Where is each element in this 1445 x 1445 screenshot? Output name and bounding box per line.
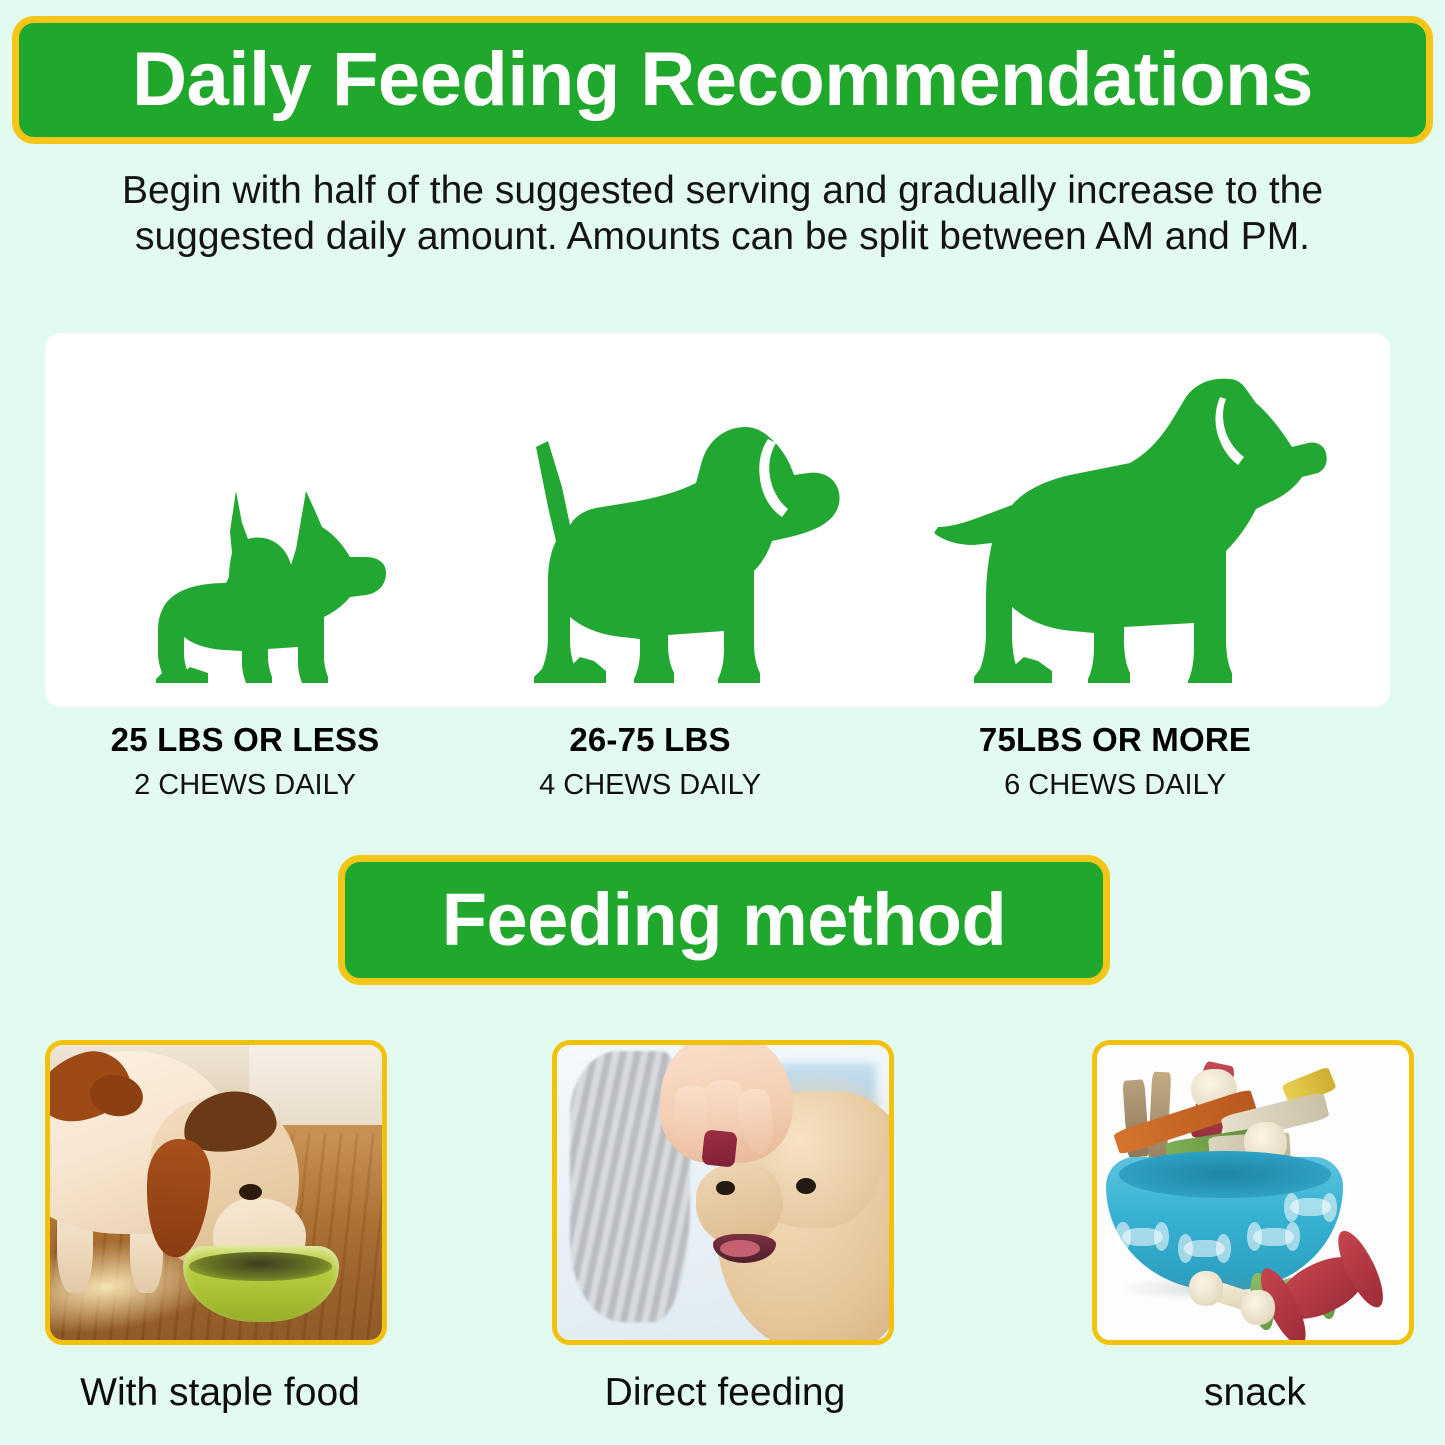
size-dose-label: 2 CHEWS DAILY — [20, 770, 470, 802]
page-title-banner: Daily Feeding Recommendations — [12, 16, 1433, 144]
small-dog-icon — [146, 487, 394, 683]
large-dog-icon — [930, 375, 1330, 683]
intro-paragraph: Begin with half of the suggested serving… — [70, 168, 1375, 260]
size-column-medium: 26-75 LBS 4 CHEWS DAILY — [430, 722, 870, 802]
method-photo-snack — [1092, 1040, 1414, 1345]
feeding-method-banner: Feeding method — [338, 855, 1110, 985]
feeding-method-title: Feeding method — [442, 883, 1006, 957]
size-weight-label: 26-75 LBS — [430, 722, 870, 758]
medium-dog-icon — [510, 421, 850, 683]
beagle-eating-from-bowl-photo — [50, 1045, 382, 1340]
method-caption-direct-feeding: Direct feeding — [500, 1372, 950, 1415]
size-dose-label: 4 CHEWS DAILY — [430, 770, 870, 802]
method-caption-snack: snack — [1090, 1372, 1420, 1415]
dog-slot-large — [885, 375, 1375, 683]
page-title: Daily Feeding Recommendations — [132, 42, 1313, 118]
size-weight-label: 75LBS OR MORE — [855, 722, 1375, 758]
dog-slot-medium — [460, 421, 900, 683]
size-column-large: 75LBS OR MORE 6 CHEWS DAILY — [855, 722, 1375, 802]
hand-offering-chew-to-poodle-photo — [557, 1045, 889, 1340]
method-caption-with-staple-food: With staple food — [20, 1372, 420, 1415]
method-photo-with-staple-food — [45, 1040, 387, 1345]
method-photo-direct-feeding — [552, 1040, 894, 1345]
size-dose-label: 6 CHEWS DAILY — [855, 770, 1375, 802]
size-column-small: 25 LBS OR LESS 2 CHEWS DAILY — [20, 722, 470, 802]
dog-size-card — [45, 333, 1390, 707]
blue-bowl-of-chews-photo — [1097, 1045, 1409, 1340]
size-weight-label: 25 LBS OR LESS — [20, 722, 470, 758]
dog-slot-small — [55, 487, 485, 683]
